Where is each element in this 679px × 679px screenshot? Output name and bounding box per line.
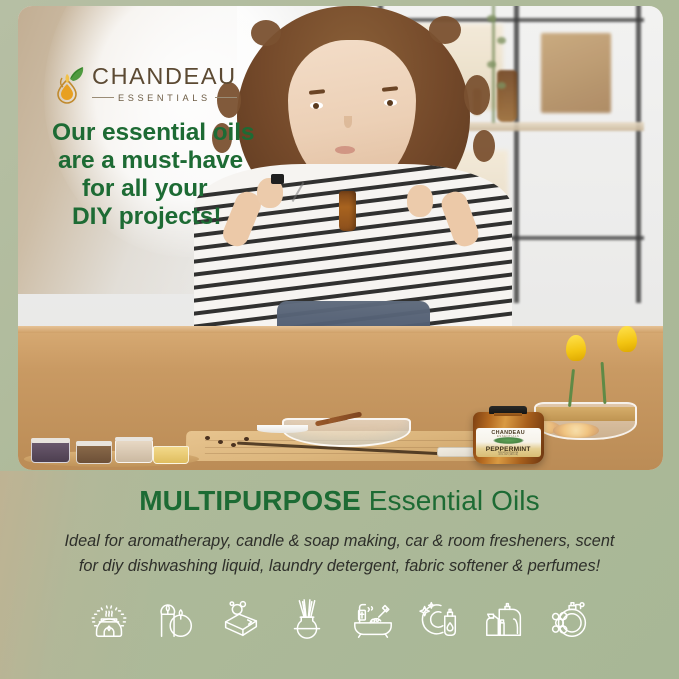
candle-icon [150,594,200,644]
headline-line-2: are a must-have [52,147,302,175]
brand-tagline-row: ESSENTIALS [92,93,237,103]
promo-card: CHANDEAU ESSENTIALS PEPPERMINT Mentha Pi… [0,0,679,679]
brand-name: CHANDEAU [92,65,237,89]
headline-line-3: for all your [52,175,302,203]
use-case-icon-row [0,594,679,644]
small-dish [257,425,309,432]
footer-description: Ideal for aromatherapy, candle & soap ma… [0,529,679,580]
label-size: 4 FL OZ (120 ml) [476,453,541,456]
product-label: CHANDEAU ESSENTIALS PEPPERMINT Mentha Pi… [476,428,541,457]
brand-tagline: ESSENTIALS [118,93,211,103]
headline-line-4: DIY projects! [52,203,302,231]
reed-diffuser-icon [282,594,332,644]
product-bottle: CHANDEAU ESSENTIALS PEPPERMINT Mentha Pi… [473,412,544,464]
spice-jar [153,446,188,465]
footer-title: MULTIPURPOSE Essential Oils [0,485,679,517]
footer-title-light: Essential Oils [369,485,540,516]
cleaning-spray-icon [480,594,530,644]
description-line-1: Ideal for aromatherapy, candle & soap ma… [18,529,661,554]
tagline-rule-left [92,97,114,98]
tagline-rule-right [215,97,237,98]
brand-logo: CHANDEAU ESSENTIALS [52,64,302,104]
perfume-bottle-icon [546,594,596,644]
peppermint-leaf-art [493,437,524,445]
flower-vase [534,402,637,439]
bath-dropper-icon [348,594,398,644]
spice-jar [31,441,70,463]
description-line-2: for diy dishwashing liquid, laundry dete… [18,554,661,579]
soap-bar-icon [216,594,266,644]
footer-section: MULTIPURPOSE Essential Oils Ideal for ar… [0,471,679,679]
tulip [617,326,637,352]
dishwashing-liquid-icon [414,594,464,644]
headline: Our essential oils are a must-have for a… [52,119,302,231]
lifestyle-photo: CHANDEAU ESSENTIALS PEPPERMINT Mentha Pi… [18,6,663,470]
spice-jar [76,444,111,464]
footer-title-bold: MULTIPURPOSE [139,485,361,516]
oil-burner-icon [84,594,134,644]
spice-jar [115,440,154,463]
right-hand [407,185,433,217]
dropper-bottle [339,191,356,231]
wooden-table: CHANDEAU ESSENTIALS PEPPERMINT Mentha Pi… [18,326,663,470]
oil-droplet-leaf-icon [52,64,86,104]
tulip [566,335,586,361]
headline-line-1: Our essential oils [52,119,302,147]
brand-overlay: CHANDEAU ESSENTIALS Our essential oils a… [52,64,302,231]
